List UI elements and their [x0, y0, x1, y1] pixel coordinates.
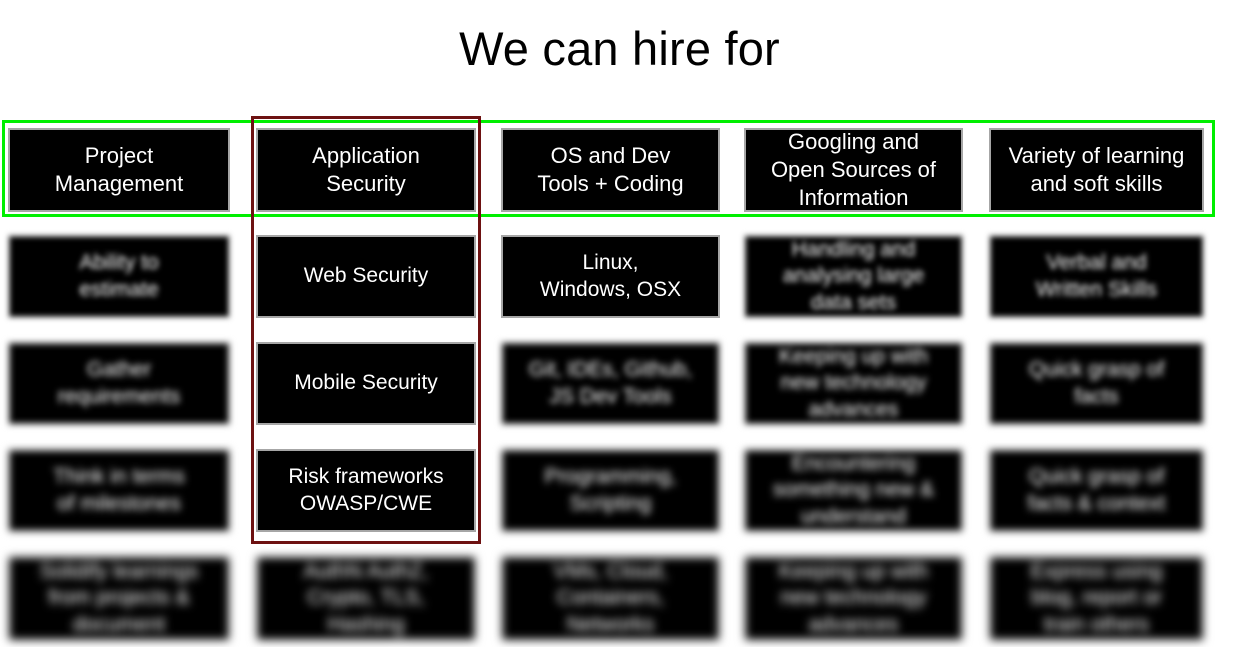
- column-header: Variety of learning and soft skills: [989, 128, 1204, 212]
- skill-box: Think in terms of milestones: [8, 449, 230, 532]
- skill-box: Handling and analysing large data sets: [744, 235, 963, 318]
- skill-box: Git, IDEs, Github, JS Dev Tools: [501, 342, 720, 425]
- skill-box: Gather requirements: [8, 342, 230, 425]
- skill-box: Keeping up with new technology advances: [744, 342, 963, 425]
- skill-box: Linux, Windows, OSX: [501, 235, 720, 318]
- skills-grid: Project ManagementAbility to estimateGat…: [0, 0, 1239, 647]
- column-header: OS and Dev Tools + Coding: [501, 128, 720, 212]
- skill-box: Solidify learnings from projects & docum…: [8, 556, 230, 641]
- skill-box: Quick grasp of facts & context: [989, 449, 1204, 532]
- skill-box: Quick grasp of facts: [989, 342, 1204, 425]
- skill-box: Mobile Security: [256, 342, 476, 425]
- skill-box: Encountering something new & understand: [744, 449, 963, 532]
- skill-box: Keeping up with new technology advances: [744, 556, 963, 641]
- skill-box: Web Security: [256, 235, 476, 318]
- skill-box: VMs, Cloud, Containers, Networks: [501, 556, 720, 641]
- skill-box: AuthN AuthZ, Crypto, TLS, Hashing: [256, 556, 476, 641]
- skill-box: Ability to estimate: [8, 235, 230, 318]
- slide-canvas: We can hire for Project ManagementAbilit…: [0, 0, 1239, 647]
- skill-box: Programming, Scripting: [501, 449, 720, 532]
- column-header: Project Management: [8, 128, 230, 212]
- column-header: Googling and Open Sources of Information: [744, 128, 963, 212]
- skill-box: Verbal and Written Skills: [989, 235, 1204, 318]
- column-header: Application Security: [256, 128, 476, 212]
- skill-box: Express using blog, report or train othe…: [989, 556, 1204, 641]
- skill-box: Risk frameworks OWASP/CWE: [256, 449, 476, 532]
